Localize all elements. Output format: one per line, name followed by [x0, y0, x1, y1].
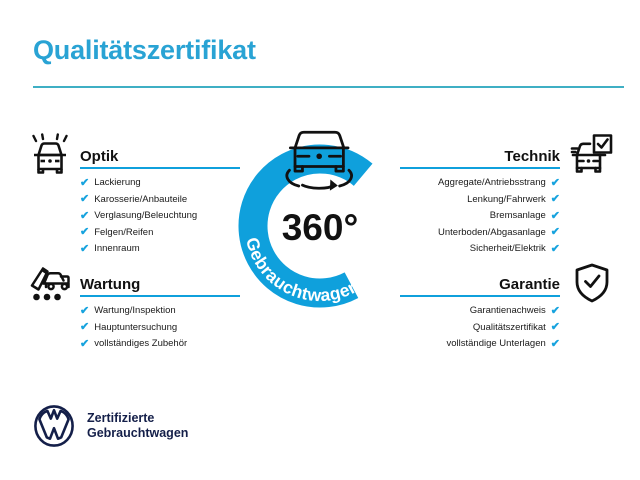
section-divider [400, 167, 560, 169]
list-item-label: vollständiges Zubehör [94, 336, 187, 353]
list-item-label: Garantienachweis [470, 303, 546, 320]
shield-check-icon [572, 261, 612, 310]
wrench-car-icon [27, 261, 73, 310]
list-item-label: Hauptuntersuchung [94, 320, 177, 337]
list-item-label: Karosserie/Anbauteile [94, 192, 187, 209]
check-icon: ✔ [551, 322, 560, 333]
list-item-label: Lenkung/Fahrwerk [467, 192, 546, 209]
list-item-label: Bremsanlage [490, 208, 546, 225]
list-item: ✔Hauptuntersuchung [80, 320, 240, 337]
list-item-label: Lackierung [94, 175, 140, 192]
badge-360-gebrauchtwagen-check: Gebrauchtwagen-Check 360° [225, 118, 415, 314]
list-item-label: vollständige Unterlagen [446, 336, 545, 353]
check-icon: ✔ [80, 306, 89, 317]
check-icon: ✔ [80, 194, 89, 205]
section-optik: Optik ✔Lackierung ✔Karosserie/Anbauteile… [80, 143, 240, 258]
list-item-label: Aggregate/Antriebsstrang [438, 175, 546, 192]
footer-brand: Zertifizierte Gebrauchtwagen [33, 405, 188, 447]
check-icon: ✔ [551, 339, 560, 350]
footer-line-1: Zertifizierte [87, 411, 188, 426]
list-item-label: Sicherheit/Elektrik [470, 241, 546, 258]
check-icon: ✔ [80, 211, 89, 222]
list-item-label: Qualitätszertifikat [473, 320, 546, 337]
car-checkbox-icon [568, 133, 614, 182]
list-item-label: Verglasung/Beleuchtung [94, 208, 197, 225]
list-item-label: Felgen/Reifen [94, 225, 153, 242]
section-header: Wartung [80, 271, 240, 297]
section-divider [80, 295, 240, 297]
section-wartung: Wartung ✔Wartung/Inspektion ✔Hauptunters… [80, 271, 240, 353]
section-header: Technik [400, 143, 560, 169]
volkswagen-logo [33, 405, 75, 447]
check-icon: ✔ [80, 178, 89, 189]
list-item: Aggregate/Antriebsstrang✔ [400, 175, 560, 192]
list-item: ✔Verglasung/Beleuchtung [80, 208, 240, 225]
section-header: Optik [80, 143, 240, 169]
list-item: Qualitätszertifikat✔ [400, 320, 560, 337]
footer-brand-text: Zertifizierte Gebrauchtwagen [87, 411, 188, 441]
section-divider [400, 295, 560, 297]
section-technik: Technik Aggregate/Antriebsstrang✔ Lenkun… [400, 143, 560, 258]
section-header: Garantie [400, 271, 560, 297]
page-title: Qualitätszertifikat [33, 35, 256, 66]
list-item: Bremsanlage✔ [400, 208, 560, 225]
section-garantie: Garantie Garantienachweis✔ Qualitätszert… [400, 271, 560, 353]
list-item: Sicherheit/Elektrik✔ [400, 241, 560, 258]
checklist: ✔Wartung/Inspektion ✔Hauptuntersuchung ✔… [80, 303, 240, 353]
check-icon: ✔ [551, 211, 560, 222]
list-item: ✔Karosserie/Anbauteile [80, 192, 240, 209]
quality-certificate-page: Qualitätszertifikat [0, 0, 640, 480]
checklist: Aggregate/Antriebsstrang✔ Lenkung/Fahrwe… [400, 175, 560, 258]
check-icon: ✔ [80, 322, 89, 333]
check-icon: ✔ [551, 306, 560, 317]
list-item: vollständige Unterlagen✔ [400, 336, 560, 353]
section-title: Optik [80, 148, 118, 165]
checklist: Garantienachweis✔ Qualitätszertifikat✔ v… [400, 303, 560, 353]
check-icon: ✔ [551, 194, 560, 205]
check-icon: ✔ [80, 339, 89, 350]
list-item-label: Wartung/Inspektion [94, 303, 176, 320]
list-item: ✔Lackierung [80, 175, 240, 192]
title-divider [33, 86, 624, 88]
list-item: Unterboden/Abgasanlage✔ [400, 225, 560, 242]
checklist: ✔Lackierung ✔Karosserie/Anbauteile ✔Verg… [80, 175, 240, 258]
check-icon: ✔ [80, 244, 89, 255]
list-item: Garantienachweis✔ [400, 303, 560, 320]
check-icon: ✔ [551, 227, 560, 238]
section-title: Technik [504, 148, 560, 165]
list-item: ✔Felgen/Reifen [80, 225, 240, 242]
list-item-label: Innenraum [94, 241, 139, 258]
check-icon: ✔ [551, 178, 560, 189]
footer-line-2: Gebrauchtwagen [87, 426, 188, 441]
list-item: ✔vollständiges Zubehör [80, 336, 240, 353]
section-divider [80, 167, 240, 169]
car-polish-icon [27, 133, 73, 182]
section-title: Wartung [80, 276, 140, 293]
check-icon: ✔ [551, 244, 560, 255]
list-item: ✔Innenraum [80, 241, 240, 258]
list-item: Lenkung/Fahrwerk✔ [400, 192, 560, 209]
check-icon: ✔ [80, 227, 89, 238]
section-title: Garantie [499, 276, 560, 293]
list-item-label: Unterboden/Abgasanlage [438, 225, 546, 242]
badge-center-label: 360° [282, 207, 359, 248]
list-item: ✔Wartung/Inspektion [80, 303, 240, 320]
